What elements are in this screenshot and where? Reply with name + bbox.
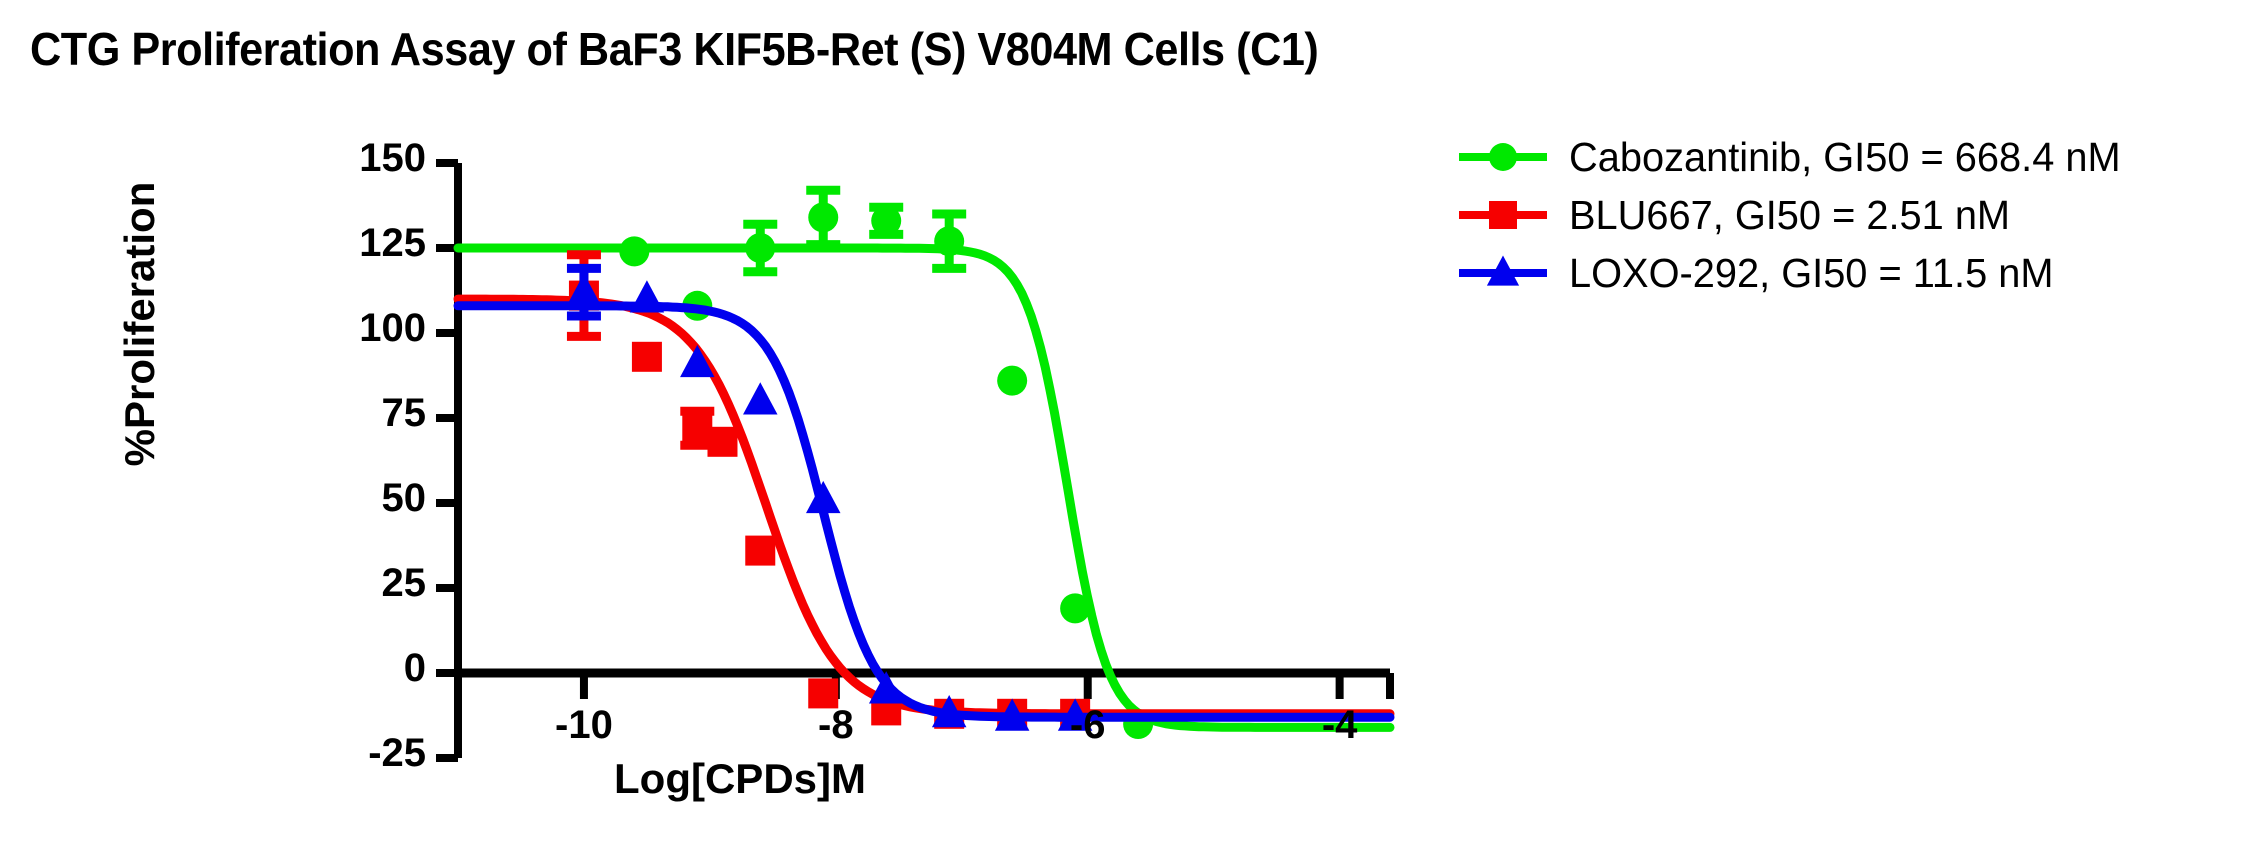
x-tick-label: -8 <box>746 703 926 748</box>
legend-item-3[interactable]: LOXO-292, GI50 = 11.5 nM <box>1455 244 2245 302</box>
legend-label: LOXO-292, GI50 = 11.5 nM <box>1569 250 2054 297</box>
fit-curve <box>458 306 1390 717</box>
y-tick-label: -25 <box>208 731 426 776</box>
plot-area: %Proliferation Log[CPDs]M 15012510075502… <box>0 0 1500 867</box>
legend-label: Cabozantinib, GI50 = 668.4 nM <box>1569 134 2121 181</box>
legend-marker-square-icon <box>1455 195 1551 235</box>
x-tick-label: -10 <box>494 703 674 748</box>
series-square <box>458 255 1390 729</box>
y-tick-label: 50 <box>208 476 426 521</box>
series-group <box>458 190 1390 739</box>
data-point-circle <box>934 226 964 256</box>
data-point-circle <box>808 202 838 232</box>
legend-item-1[interactable]: Cabozantinib, GI50 = 668.4 nM <box>1455 128 2245 186</box>
data-point-circle <box>1489 143 1517 171</box>
legend-label: BLU667, GI50 = 2.51 nM <box>1569 192 2010 239</box>
data-point-circle <box>745 233 775 263</box>
data-point-square <box>707 427 737 457</box>
y-tick-label: 150 <box>208 136 426 181</box>
data-point-triangle <box>806 481 841 513</box>
data-point-triangle <box>743 382 778 414</box>
figure-container: CTG Proliferation Assay of BaF3 KIF5B-Re… <box>0 0 2261 867</box>
data-point-triangle <box>630 280 665 312</box>
y-tick-label: 100 <box>208 306 426 351</box>
y-tick-label: 0 <box>208 646 426 691</box>
y-tick-label: 25 <box>208 561 426 606</box>
x-tick-label: -6 <box>998 703 1178 748</box>
data-point-circle <box>1060 593 1090 623</box>
legend-marker-triangle-icon <box>1455 253 1551 293</box>
data-point-square <box>1489 201 1517 229</box>
data-point-circle <box>871 206 901 236</box>
legend-marker-circle-icon <box>1455 137 1551 177</box>
y-axis-title: %Proliferation <box>116 124 164 524</box>
data-point-circle <box>619 236 649 266</box>
data-point-square <box>745 536 775 566</box>
data-point-square <box>632 342 662 372</box>
y-tick-label: 75 <box>208 391 426 436</box>
x-tick-label: -4 <box>1250 703 1430 748</box>
legend-item-2[interactable]: BLU667, GI50 = 2.51 nM <box>1455 186 2245 244</box>
legend: Cabozantinib, GI50 = 668.4 nMBLU667, GI5… <box>1455 128 2245 302</box>
data-point-circle <box>997 366 1027 396</box>
x-axis-title: Log[CPDs]M <box>530 755 950 803</box>
y-tick-label: 125 <box>208 221 426 266</box>
fit-curve <box>458 299 1390 714</box>
